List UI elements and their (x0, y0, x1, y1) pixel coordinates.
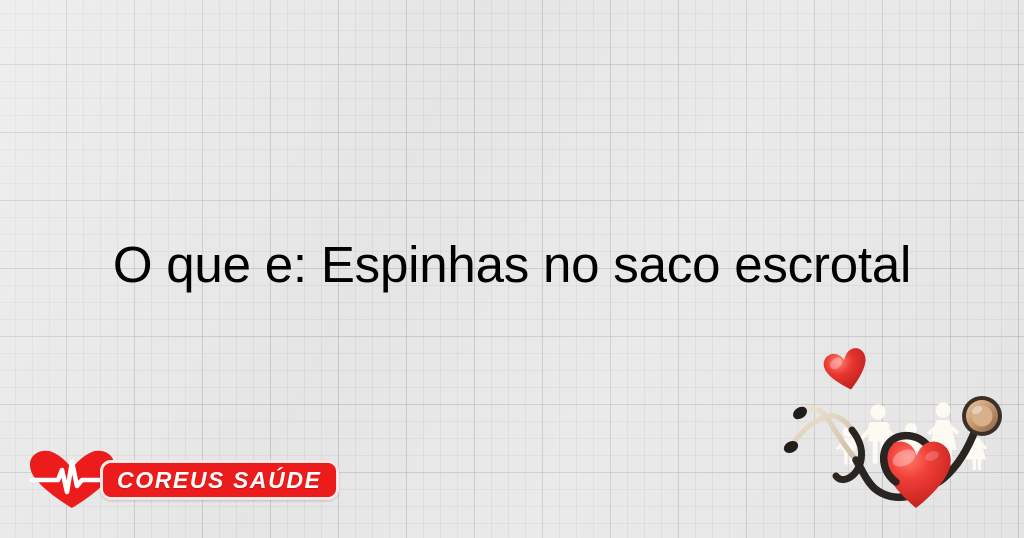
medical-illustration (778, 348, 1024, 538)
stethoscope-chestpiece (962, 396, 1002, 436)
brand-logo[interactable]: COREUS SAÚDE (28, 450, 348, 510)
slide-canvas: O que e: Espinhas no saco escrotal COREU… (0, 0, 1024, 538)
brand-name-badge: COREUS SAÚDE (100, 460, 339, 500)
page-title: O que e: Espinhas no saco escrotal (0, 236, 1024, 294)
brand-name-label: COREUS SAÚDE (103, 467, 336, 494)
small-heart-icon (821, 348, 872, 394)
